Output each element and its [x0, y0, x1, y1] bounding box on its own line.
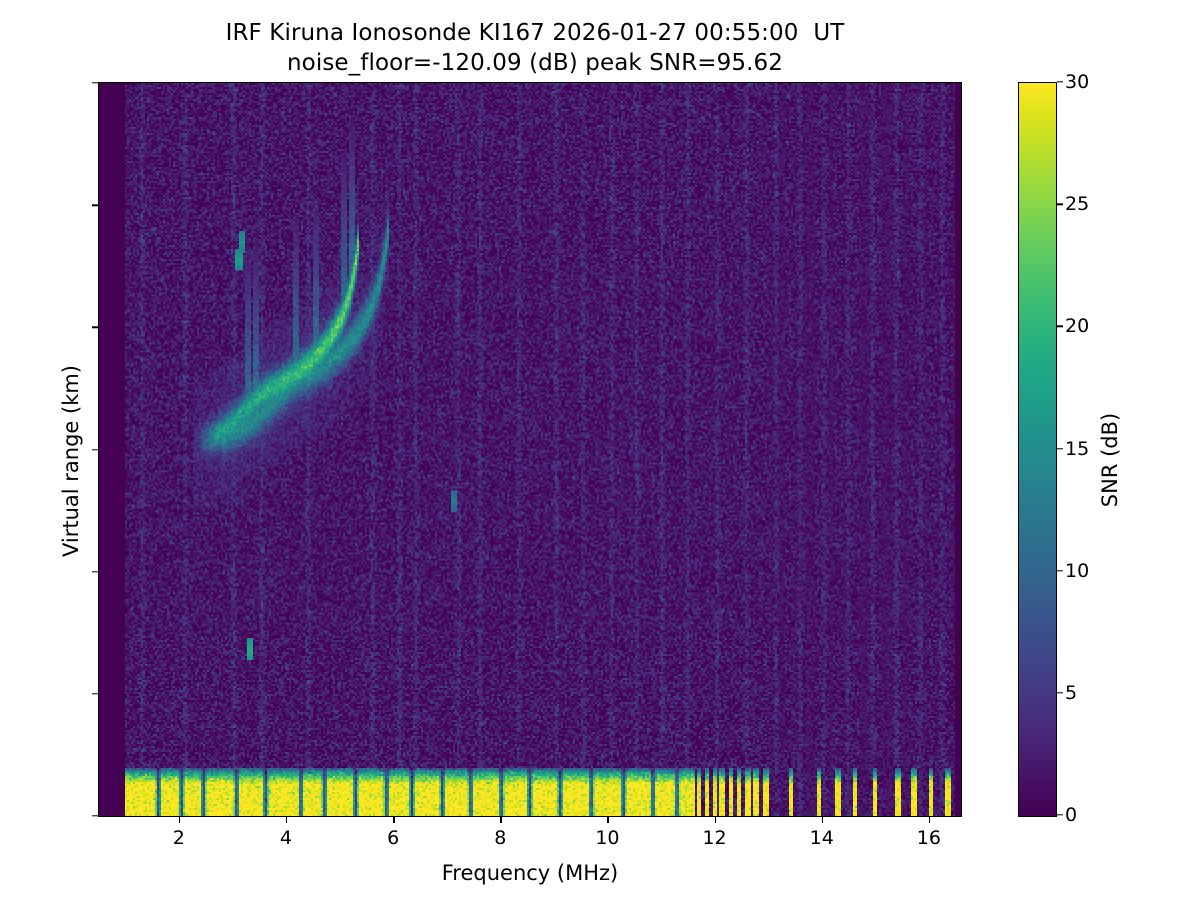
y-tick-mark — [92, 449, 98, 450]
colorbar-tick-mark — [1057, 203, 1063, 204]
title-line-2: noise_floor=-120.09 (dB) peak SNR=95.62 — [0, 48, 1070, 78]
x-tick-label: 6 — [353, 827, 433, 849]
x-tick-label: 2 — [139, 827, 219, 849]
x-tick-label: 14 — [782, 827, 862, 849]
colorbar-tick-label: 5 — [1065, 682, 1077, 704]
x-tick-mark — [822, 817, 823, 823]
y-tick-mark — [92, 82, 98, 83]
colorbar-tick-label: 25 — [1065, 193, 1089, 215]
colorbar-tick-label: 30 — [1065, 71, 1089, 93]
colorbar-label: SNR (dB) — [1098, 250, 1122, 670]
y-tick-mark — [92, 815, 98, 816]
x-axis-label: Frequency (MHz) — [99, 861, 961, 885]
x-tick-label: 12 — [675, 827, 755, 849]
colorbar-tick-mark — [1057, 326, 1063, 327]
title-line-1: IRF Kiruna Ionosonde KI167 2026-01-27 00… — [0, 18, 1070, 48]
y-axis-label: Virtual range (km) — [59, 251, 83, 671]
x-tick-label: 10 — [567, 827, 647, 849]
colorbar-tick-mark — [1057, 81, 1063, 82]
ionogram-figure: IRF Kiruna Ionosonde KI167 2026-01-27 00… — [0, 0, 1200, 900]
ionogram-heatmap — [99, 83, 961, 816]
x-tick-mark — [393, 817, 394, 823]
colorbar-tick-mark — [1057, 570, 1063, 571]
colorbar-tick-label: 20 — [1065, 315, 1089, 337]
colorbar-gradient — [1018, 82, 1057, 817]
colorbar-group: 051015202530 SNR (dB) — [1018, 82, 1055, 815]
x-tick-label: 8 — [460, 827, 540, 849]
x-tick-label: 16 — [889, 827, 969, 849]
colorbar-tick-label: 15 — [1065, 438, 1089, 460]
plot-axes: 0100200300400500600 246810121416 Virtual… — [98, 82, 962, 817]
x-tick-mark — [500, 817, 501, 823]
x-tick-mark — [929, 817, 930, 823]
x-tick-mark — [715, 817, 716, 823]
y-tick-mark — [92, 327, 98, 328]
x-tick-mark — [607, 817, 608, 823]
colorbar-tick-mark — [1057, 814, 1063, 815]
x-tick-mark — [286, 817, 287, 823]
y-tick-mark — [92, 571, 98, 572]
y-tick-mark — [92, 204, 98, 205]
x-tick-mark — [179, 817, 180, 823]
x-tick-label: 4 — [246, 827, 326, 849]
colorbar-tick-mark — [1057, 448, 1063, 449]
figure-title: IRF Kiruna Ionosonde KI167 2026-01-27 00… — [0, 18, 1070, 78]
y-tick-mark — [92, 693, 98, 694]
colorbar-tick-label: 0 — [1065, 804, 1077, 826]
colorbar-tick-label: 10 — [1065, 560, 1089, 582]
colorbar-tick-mark — [1057, 692, 1063, 693]
